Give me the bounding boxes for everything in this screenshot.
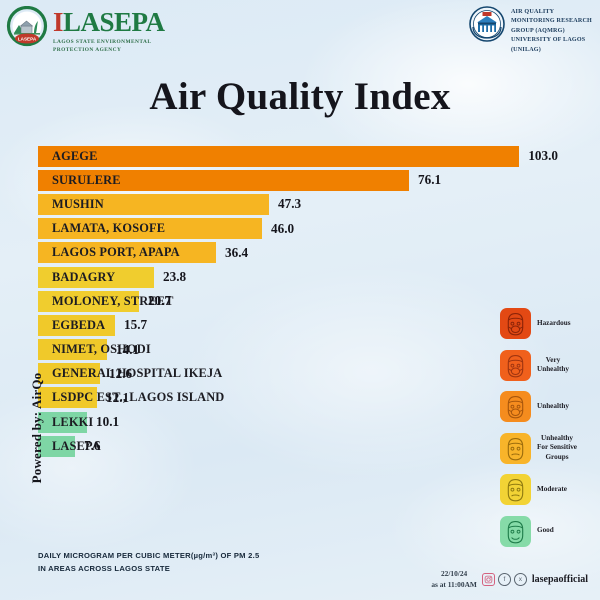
aqmrg-line-1: AIR QUALITY	[511, 8, 592, 17]
aqi-face-icon	[500, 516, 531, 547]
chart-bar-value: 12.1	[106, 390, 129, 406]
chart-bar: EGBEDA	[38, 315, 115, 336]
chart-row: BADAGRY23.8	[38, 265, 558, 289]
legend-row: Hazardous	[500, 303, 600, 345]
chart-row: LAGOS PORT, APAPA36.4	[38, 241, 558, 265]
chart-row: MOLONEY, STREET20.7	[38, 289, 558, 313]
footnote-line-2: IN AREAS ACROSS LAGOS STATE	[38, 563, 259, 576]
legend-row: Unhealthy	[500, 386, 600, 428]
chart-bar-label: LAMATA, KOSOFE	[52, 221, 165, 236]
chart-bar-value: 10.1	[96, 414, 119, 430]
aqmrg-line-5: (UNILAG)	[511, 46, 592, 55]
chart-row: AGEGE103.0	[38, 144, 558, 168]
footnote-unit: µg/m³	[194, 551, 216, 560]
timestamp: 22/10/24 as at 11:00AM	[431, 568, 477, 590]
chart-bar-value: 36.4	[225, 245, 248, 261]
chart-bar: MOLONEY, STREET	[38, 291, 139, 312]
chart-bar-label: AGEGE	[52, 149, 98, 164]
chart-row: GENERAL HOSPITAL IKEJA12.6	[38, 362, 558, 386]
lasepa-logo-icon: LASEPA	[6, 6, 48, 48]
lasepa-branding: LASEPA ILASEPA LAGOS STATE ENVIRONMENTAL…	[6, 6, 165, 54]
legend-label: Unhealthy	[537, 402, 569, 412]
chart-bar-label: LAGOS PORT, APAPA	[52, 245, 180, 260]
time-label: as at 11:00AM	[431, 579, 477, 590]
lasepa-name-first: I	[53, 9, 63, 36]
chart-bar-value: 12.6	[109, 366, 132, 382]
chart-bar-value: 14.1	[116, 342, 139, 358]
chart-bar-value: 76.1	[418, 172, 441, 188]
lasepa-wordmark: ILASEPA LAGOS STATE ENVIRONMENTAL PROTEC…	[53, 6, 165, 54]
unilag-logo-icon	[468, 5, 506, 43]
social-handle: lasepaofficial	[532, 574, 588, 585]
chart-bar-label: LEKKI	[52, 415, 93, 430]
chart-bar-label: BADAGRY	[52, 270, 115, 285]
aqmrg-text-block: AIR QUALITY MONITORING RESEARCH GROUP (A…	[511, 5, 592, 55]
chart-bar-label: EGBEDA	[52, 318, 105, 333]
chart-row: SURULERE76.1	[38, 168, 558, 192]
footer-meta: 22/10/24 as at 11:00AM f x lasepaofficia…	[431, 568, 588, 590]
chart-row: MUSHIN47.3	[38, 192, 558, 216]
aqi-face-icon	[500, 391, 531, 422]
powered-by-label: Powered by: AirQo	[29, 353, 45, 503]
footnote-post: ) OF PM 2.5	[215, 551, 259, 560]
chart-bar-label: SURULERE	[52, 173, 121, 188]
chart-footnote: DAILY MICROGRAM PER CUBIC METER(µg/m³) O…	[38, 550, 259, 575]
legend-label: Moderate	[537, 485, 567, 495]
legend-label: VeryUnhealthy	[537, 356, 569, 375]
footnote-pre: DAILY MICROGRAM PER CUBIC METER(	[38, 551, 194, 560]
facebook-icon[interactable]: f	[498, 573, 511, 586]
chart-bar-value: 103.0	[528, 148, 558, 164]
infographic-poster: LASEPA ILASEPA LAGOS STATE ENVIRONMENTAL…	[0, 0, 600, 600]
chart-bar-value: 47.3	[278, 196, 301, 212]
legend-row: UnhealthyFor SensitiveGroups	[500, 428, 600, 470]
lasepa-subtitle-line1: LAGOS STATE ENVIRONMENTAL	[53, 38, 165, 46]
chart-bar-value: 15.7	[124, 317, 147, 333]
footnote-line-1: DAILY MICROGRAM PER CUBIC METER(µg/m³) O…	[38, 550, 259, 563]
date-label: 22/10/24	[431, 568, 477, 579]
aqi-face-icon	[500, 433, 531, 464]
social-icons: f x	[482, 573, 527, 586]
legend-label: UnhealthyFor SensitiveGroups	[537, 434, 577, 463]
lasepa-seal-text: LASEPA	[18, 36, 37, 41]
chart-bar: LSDPC EST., LAGOS ISLAND	[38, 387, 97, 408]
chart-bar-value: 23.8	[163, 269, 186, 285]
chart-bar: LAGOS PORT, APAPA	[38, 242, 216, 263]
instagram-icon[interactable]	[482, 573, 495, 586]
chart-bar-value: 20.7	[148, 293, 171, 309]
legend-row: Moderate	[500, 469, 600, 511]
chart-bar-label: LSDPC EST., LAGOS ISLAND	[52, 390, 224, 405]
aqi-bar-chart: AGEGE103.0SURULERE76.1MUSHIN47.3LAMATA, …	[38, 144, 558, 458]
legend-row: Good	[500, 511, 600, 553]
chart-bar: AGEGE	[38, 146, 519, 167]
aqmrg-line-2: MONITORING RESEARCH	[511, 17, 592, 26]
aqmrg-line-4: UNIVERSITY OF LAGOS	[511, 36, 592, 45]
chart-row: LSDPC EST., LAGOS ISLAND12.1	[38, 386, 558, 410]
chart-bar: NIMET, OSHODI	[38, 339, 107, 360]
chart-bar: GENERAL HOSPITAL IKEJA	[38, 363, 100, 384]
aqi-face-icon	[500, 350, 531, 381]
chart-bar-label: MUSHIN	[52, 197, 104, 212]
chart-bar: MUSHIN	[38, 194, 269, 215]
chart-row: NIMET, OSHODI14.1	[38, 338, 558, 362]
chart-bar: BADAGRY	[38, 267, 154, 288]
chart-bar: LAMATA, KOSOFE	[38, 218, 262, 239]
lasepa-name-rest: LASEPA	[63, 9, 165, 36]
page-title: Air Quality Index	[0, 74, 600, 119]
aqi-legend: HazardousVeryUnhealthyUnhealthyUnhealthy…	[500, 303, 600, 552]
aqmrg-line-3: GROUP (AQMRG)	[511, 27, 592, 36]
legend-label: Good	[537, 526, 554, 536]
lasepa-subtitle-line2: PROTECTION AGENCY	[53, 46, 165, 54]
chart-row: EGBEDA15.7	[38, 313, 558, 337]
aqi-face-icon	[500, 474, 531, 505]
x-icon[interactable]: x	[514, 573, 527, 586]
chart-row: LEKKI10.1	[38, 410, 558, 434]
legend-row: VeryUnhealthy	[500, 345, 600, 387]
chart-bar-value: 46.0	[271, 221, 294, 237]
aqmrg-branding: AIR QUALITY MONITORING RESEARCH GROUP (A…	[468, 5, 592, 55]
chart-bar: LEKKI	[38, 412, 87, 433]
chart-row: LASEPA7.6	[38, 434, 558, 458]
chart-bar-label: GENERAL HOSPITAL IKEJA	[52, 366, 222, 381]
chart-row: LAMATA, KOSOFE46.0	[38, 217, 558, 241]
legend-label: Hazardous	[537, 319, 571, 329]
chart-bar-value: 7.6	[84, 438, 100, 454]
chart-bar: SURULERE	[38, 170, 409, 191]
aqi-face-icon	[500, 308, 531, 339]
